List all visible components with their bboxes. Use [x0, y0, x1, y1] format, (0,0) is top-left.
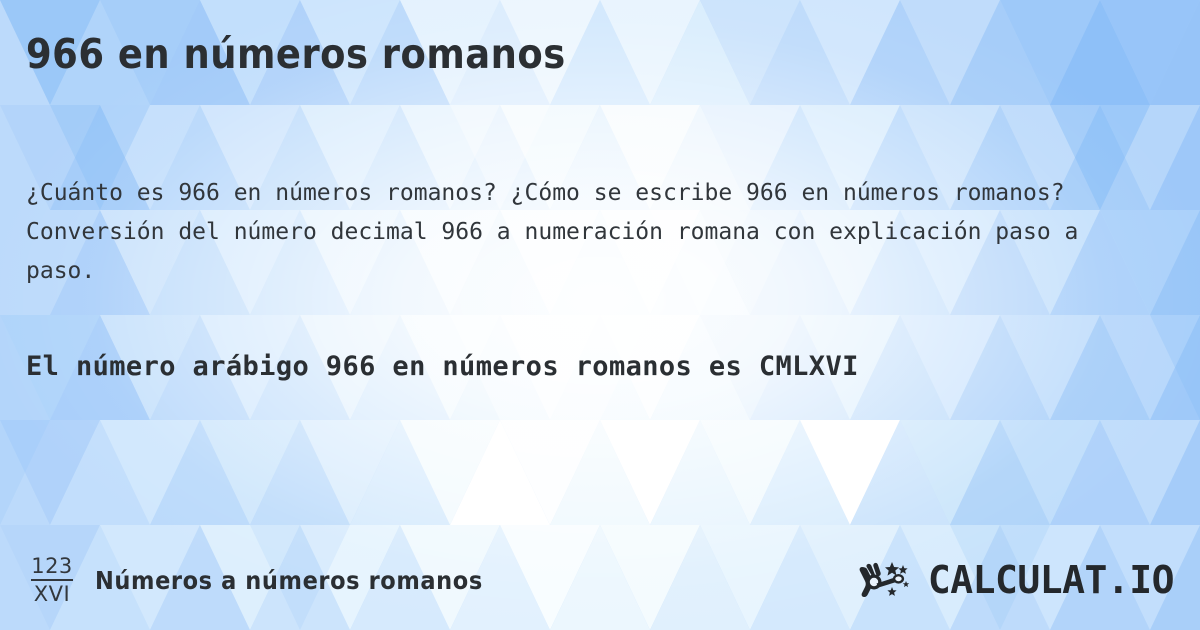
intro-paragraph: ¿Cuánto es 966 en números romanos? ¿Cómo…	[26, 174, 1146, 291]
footer-category-label: Números a números romanos	[95, 566, 483, 595]
site-logo-text: CALCULAT.IO	[928, 561, 1174, 599]
magic-wand-hand-icon	[858, 558, 918, 602]
badge-roman-number: XVI	[34, 581, 70, 605]
card-content: 966 en números romanos ¿Cuánto es 966 en…	[0, 0, 1200, 630]
footer: 123 XVI Números a números romanos	[0, 552, 1200, 608]
conversion-result: El número arábigo 966 en números romanos…	[26, 343, 1146, 390]
arabic-to-roman-icon: 123 XVI	[26, 556, 78, 605]
site-logo[interactable]: CALCULAT.IO	[858, 558, 1174, 602]
footer-left: 123 XVI Números a números romanos	[26, 556, 483, 605]
badge-arabic-number: 123	[31, 556, 73, 581]
og-image-card: 966 en números romanos ¿Cuánto es 966 en…	[0, 0, 1200, 630]
page-title: 966 en números romanos	[26, 30, 566, 78]
